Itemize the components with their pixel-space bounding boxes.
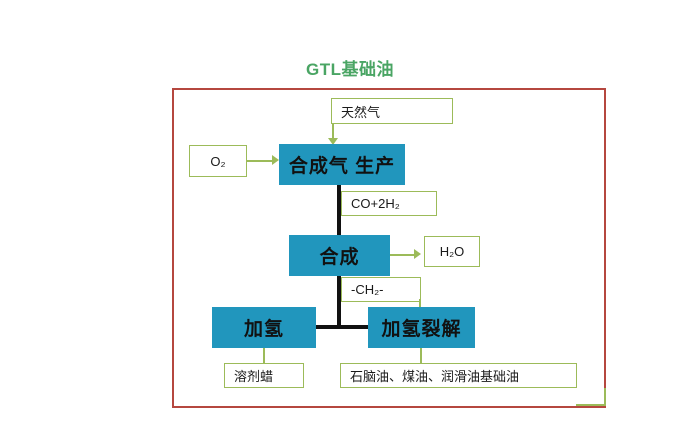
node-natural-gas: 天然气 [331, 98, 453, 124]
node-oxygen-label: O₂ [210, 154, 225, 169]
edge-o2-to-syngas-arrowhead [272, 155, 279, 165]
node-synthesis-label: 合成 [319, 242, 359, 269]
edge-gas-to-syngas-line [332, 124, 334, 139]
node-water: H₂O [424, 236, 480, 267]
diagram-canvas: GTL基础油 天然气 O₂ 合成气 生产 CO+2H₂ 合成 H₂O -CH₂- [0, 0, 700, 435]
node-water-label: H₂O [440, 244, 465, 259]
node-hydrocracking-label: 加氢裂解 [381, 314, 461, 341]
node-syngas-production: 合成气 生产 [279, 144, 405, 185]
edge-o2-to-syngas-line [247, 160, 273, 162]
page-title: GTL基础油 [0, 55, 700, 80]
node-syngas-production-label: 合成气 生产 [289, 151, 395, 178]
label-syngas-formula: CO+2H₂ [341, 191, 437, 216]
node-hydrocracking: 加氢裂解 [368, 307, 475, 348]
node-hydrogenation-label: 加氢 [244, 314, 284, 341]
label-ch2-text: -CH₂- [351, 282, 383, 297]
edge-synthesis-to-water-arrowhead [414, 249, 421, 259]
node-solvent-wax-label: 溶剂蜡 [234, 366, 273, 385]
node-natural-gas-label: 天然气 [341, 102, 380, 121]
node-hydrogenation: 加氢 [212, 307, 316, 348]
node-products: 石脑油、煤油、润滑油基础油 [340, 363, 577, 388]
corner-accent-horizontal [576, 404, 606, 406]
node-products-label: 石脑油、煤油、润滑油基础油 [350, 366, 519, 385]
corner-accent-vertical [604, 388, 606, 406]
edge-hydrogenation-to-wax-line [263, 348, 265, 363]
node-solvent-wax: 溶剂蜡 [224, 363, 304, 388]
node-synthesis: 合成 [289, 235, 390, 276]
label-ch2: -CH₂- [341, 277, 421, 302]
edge-synthesis-to-water-line [390, 254, 415, 256]
edge-hydrocracking-to-products-line [420, 348, 422, 363]
edge-split-horizontal-line [316, 325, 371, 329]
label-syngas-formula-text: CO+2H₂ [351, 196, 400, 211]
node-oxygen: O₂ [189, 145, 247, 177]
